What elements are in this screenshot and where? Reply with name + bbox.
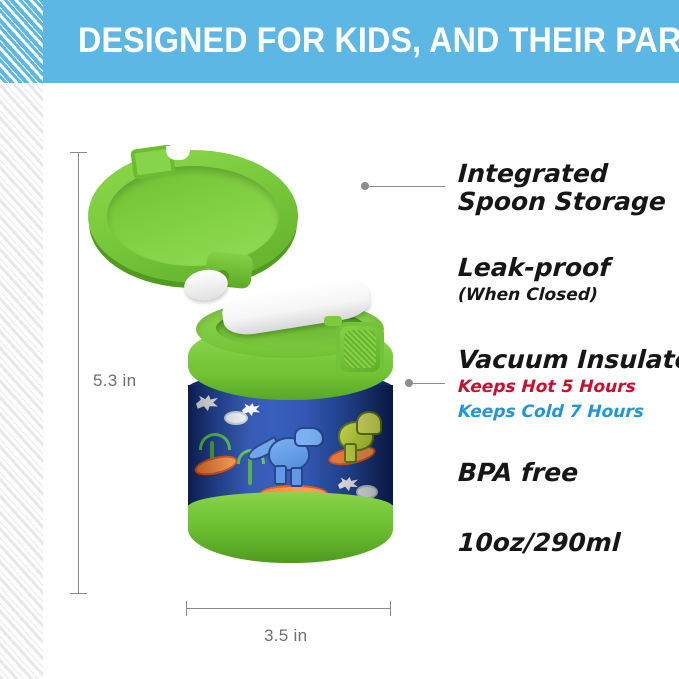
triceratops-leg — [344, 443, 357, 463]
feature-title-line-2: Spoon Storage — [457, 188, 673, 216]
leader-stroke — [411, 383, 445, 384]
feature-integrated-spoon-storage: Integrated Spoon Storage — [458, 160, 673, 216]
trex-leg — [290, 467, 303, 487]
feature-bpa-free: BPA free — [458, 459, 673, 487]
spacer — [458, 487, 673, 529]
page-title: DESIGNED FOR KIDS, AND THEIR PARENTS — [78, 21, 679, 61]
latch-grip-texture — [344, 330, 376, 368]
splash-icon — [338, 477, 358, 491]
spacer — [458, 306, 673, 346]
feature-vacuum-insulated: Vacuum Insulated Keeps Hot 5 Hours Keeps… — [458, 346, 673, 423]
leader-stroke — [367, 186, 445, 187]
splash-icon — [196, 395, 218, 411]
feature-keeps-cold: Keeps Cold 7 Hours — [457, 402, 673, 423]
stripe-decoration-body — [0, 83, 43, 679]
feature-title: Leak-proof — [457, 254, 673, 282]
feature-keeps-hot: Keeps Hot 5 Hours — [457, 377, 673, 398]
feature-title: Vacuum Insulated — [457, 346, 673, 374]
trex-head — [294, 427, 324, 447]
leader-line-spoon-storage — [361, 182, 445, 190]
height-dimension-label: 5.3 in — [93, 371, 136, 391]
infographic-page: DESIGNED FOR KIDS, AND THEIR PARENTS — [0, 0, 679, 679]
stripe-decoration-header — [0, 0, 43, 83]
spacer — [458, 216, 673, 254]
width-dimension-cap-right — [390, 601, 391, 616]
product-jar — [186, 260, 396, 580]
feature-title: 10oz/290ml — [457, 529, 673, 557]
feature-subtitle: (When Closed) — [457, 285, 673, 306]
leader-line-vacuum-insulated — [405, 379, 445, 387]
trex-leg — [274, 465, 287, 485]
spoon-bowl — [182, 267, 230, 304]
feature-title-line-1: Integrated — [457, 160, 673, 188]
width-dimension-label: 3.5 in — [264, 626, 307, 646]
height-dimension-line — [78, 152, 79, 594]
product-illustration — [80, 140, 410, 590]
feature-leak-proof: Leak-proof (When Closed) — [458, 254, 673, 306]
width-dimension-cap-left — [186, 601, 187, 616]
palm-frond-icon — [199, 433, 231, 450]
width-dimension-line — [186, 608, 391, 609]
jar-base-ring — [188, 505, 393, 563]
spacer — [458, 423, 673, 459]
lid-inner-bowl — [107, 166, 279, 266]
fish-icon — [224, 411, 248, 425]
height-dimension-cap-bottom — [70, 593, 87, 594]
height-dimension-cap-top — [70, 152, 87, 153]
triceratops-frill — [356, 411, 382, 435]
feature-capacity: 10oz/290ml — [458, 529, 673, 557]
feature-list: Integrated Spoon Storage Leak-proof (Whe… — [458, 160, 673, 557]
surfboard-icon — [193, 452, 240, 479]
feature-title: BPA free — [457, 459, 673, 487]
